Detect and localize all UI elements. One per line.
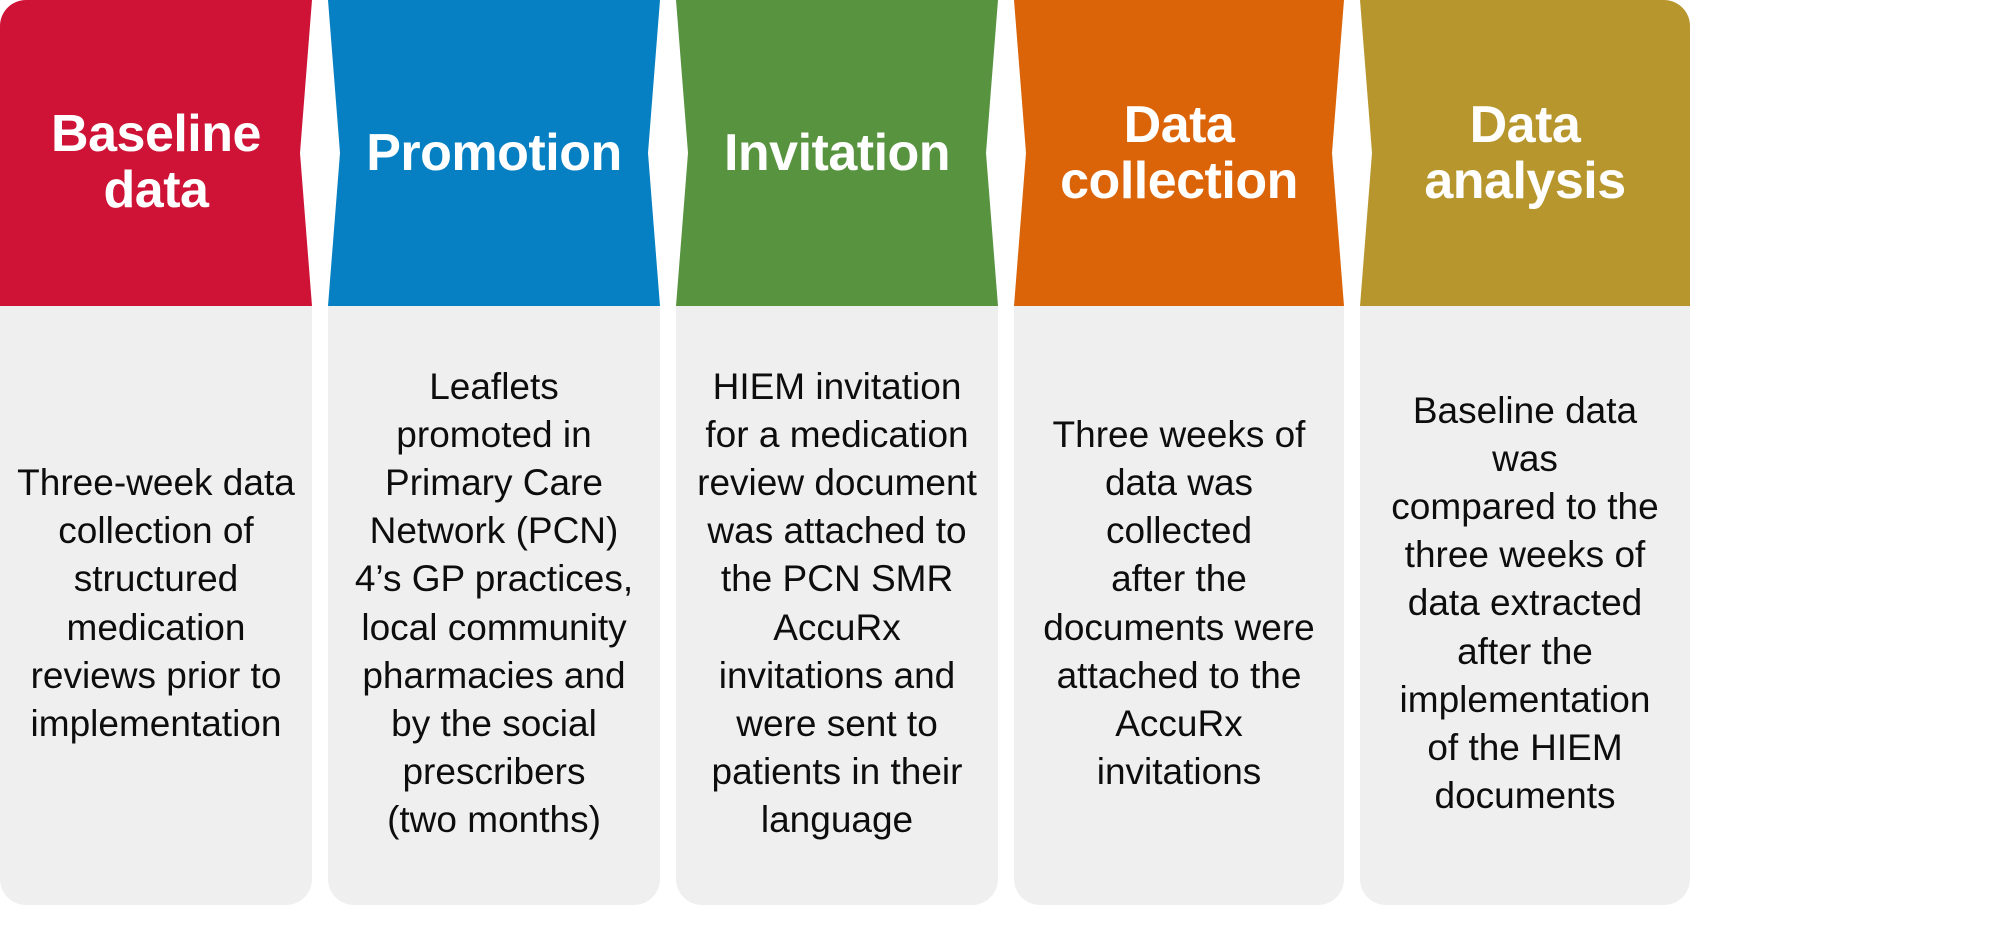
stage-3-body-panel: HIEM invitation for a medication review … [676,306,998,905]
stage-1-header: Baseline data [0,0,312,306]
stage-1-body-text: Three-week data collection of structured… [17,459,295,748]
stage-3-body-text: HIEM invitation for a medication review … [697,363,977,844]
stage-5-data-analysis: Data analysis Baseline data was compared… [1360,0,1690,905]
stage-5-header: Data analysis [1360,0,1690,306]
stage-2-header: Promotion [328,0,660,306]
stage-2-title: Promotion [328,0,660,306]
stage-2-promotion: Promotion Leaflets promoted in Primary C… [328,0,660,905]
stage-1-body-panel: Three-week data collection of structured… [0,306,312,905]
stage-gap-3 [998,0,1014,10]
stage-gap-1 [312,0,328,10]
stage-gap-2 [660,0,676,10]
stage-4-title: Data collection [1014,0,1344,306]
stage-3-header: Invitation [676,0,998,306]
stage-gap-4 [1344,0,1360,10]
stage-1-title: Baseline data [0,0,312,306]
stage-5-body-panel: Baseline data was compared to the three … [1360,306,1690,905]
stage-3-title: Invitation [676,0,998,306]
stage-5-title: Data analysis [1360,0,1690,306]
process-flow-diagram: Baseline data Three-week data collection… [0,0,2000,935]
stage-4-body-panel: Three weeks of data was collected after … [1014,306,1344,905]
stage-4-data-collection: Data collection Three weeks of data was … [1014,0,1344,905]
stage-4-body-text: Three weeks of data was collected after … [1030,411,1328,796]
stage-5-body-text: Baseline data was compared to the three … [1376,387,1674,820]
stage-4-header: Data collection [1014,0,1344,306]
stage-2-body-panel: Leaflets promoted in Primary Care Networ… [328,306,660,905]
stage-1-baseline-data: Baseline data Three-week data collection… [0,0,312,905]
stage-2-body-text: Leaflets promoted in Primary Care Networ… [355,363,633,844]
stage-3-invitation: Invitation HIEM invitation for a medicat… [676,0,998,905]
